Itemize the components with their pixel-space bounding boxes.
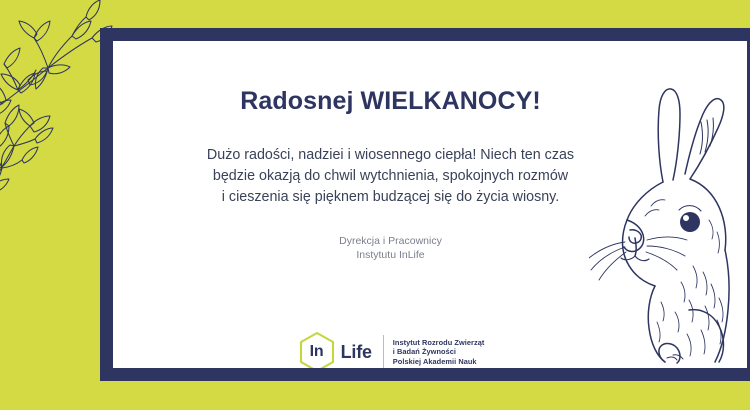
hexagon-icon: In [297, 331, 337, 368]
rabbit-icon [589, 70, 747, 368]
greeting-card-page: Radosnej WIELKANOCY! Dużo radości, nadzi… [0, 0, 750, 410]
signature-text: Dyrekcja i Pracownicy Instytutu InLife [339, 208, 442, 262]
greeting-card: Radosnej WIELKANOCY! Dużo radości, nadzi… [100, 28, 750, 381]
inlife-logo: In Life Instytut Rozrodu Zwierząt i Bada… [113, 331, 668, 368]
greeting-body-text: Dużo radości, nadziei i wiosennego ciepł… [207, 116, 574, 208]
logo-row: In Life Instytut Rozrodu Zwierząt i Bada… [297, 331, 485, 368]
page-title: Radosnej WIELKANOCY! [240, 87, 541, 116]
logo-institute-name: Instytut Rozrodu Zwierząt i Badań Żywnoś… [393, 338, 485, 367]
logo-hex-label: In [310, 343, 324, 361]
card-inner: Radosnej WIELKANOCY! Dużo radości, nadzi… [113, 41, 747, 368]
card-content: Radosnej WIELKANOCY! Dużo radości, nadzi… [113, 41, 668, 368]
logo-wordmark: Life [341, 342, 372, 363]
logo-divider [383, 335, 384, 369]
